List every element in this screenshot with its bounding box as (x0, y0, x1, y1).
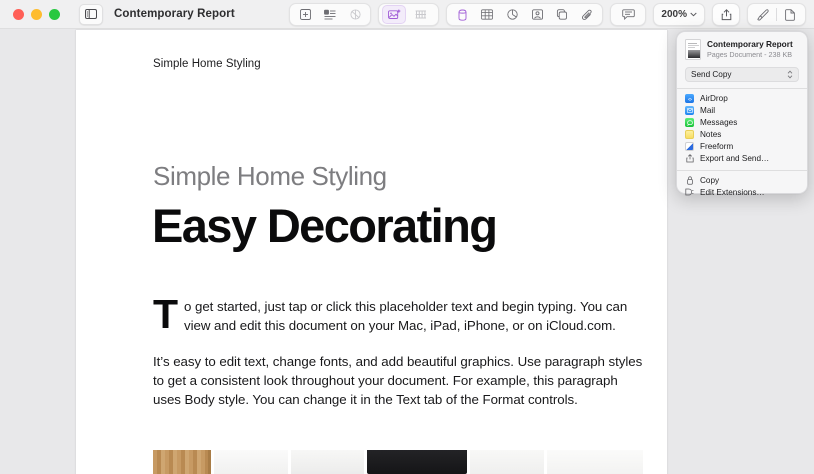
zoom-control[interactable]: 200% (653, 3, 705, 26)
popover-divider-1 (677, 88, 807, 89)
messages-icon (685, 118, 694, 127)
document-eyebrow[interactable]: Simple Home Styling (153, 161, 387, 192)
share-option-label: Freeform (700, 142, 733, 151)
toolbar-group-media (378, 3, 439, 26)
share-action-label: Copy (700, 176, 719, 185)
close-button[interactable] (13, 9, 24, 20)
image-gallery-strip[interactable] (153, 450, 643, 474)
insert-shape-alt-icon[interactable] (450, 5, 474, 24)
share-file-subtitle: Pages Document - 238 KB (707, 50, 793, 60)
drop-cap: T (153, 294, 178, 334)
toolbar-group-objects (446, 3, 603, 26)
send-mode-value: Send Copy (691, 70, 732, 79)
send-mode-select[interactable]: Send Copy (685, 67, 799, 82)
zoom-value: 200% (661, 9, 687, 20)
share-option-export-and-send[interactable]: Export and Send… (677, 153, 807, 165)
running-header[interactable]: Simple Home Styling (153, 58, 261, 70)
insert-chart-pie-icon[interactable] (500, 5, 524, 24)
insert-chart-icon[interactable] (407, 5, 435, 24)
insert-shape-icon[interactable] (343, 5, 367, 24)
titlebar: Contemporary Report (0, 0, 814, 29)
insert-table-grid-icon[interactable] (475, 5, 499, 24)
gallery-image-1[interactable] (214, 450, 288, 474)
share-option-airdrop[interactable]: AirDrop (677, 93, 807, 105)
toolbar-group-comment (610, 3, 646, 26)
share-file-header: Contemporary Report Pages Document - 238… (677, 38, 807, 60)
minimize-button[interactable] (31, 9, 42, 20)
insert-image-icon[interactable] (525, 5, 549, 24)
copy-icon (685, 176, 694, 185)
up-down-chevron-icon (787, 70, 793, 79)
share-option-mail[interactable]: Mail (677, 105, 807, 117)
format-brush-icon[interactable] (751, 5, 775, 24)
share-option-notes[interactable]: Notes (677, 129, 807, 141)
share-action-edit-extensions[interactable]: Edit Extensions… (677, 186, 807, 198)
share-option-label: Notes (700, 130, 721, 139)
page-title: Contemporary Report (114, 8, 235, 20)
document-thumbnail (685, 39, 701, 60)
notes-icon (685, 130, 694, 139)
chevron-down-icon (690, 12, 697, 17)
gallery-image-dark[interactable] (367, 450, 467, 474)
comment-icon[interactable] (614, 5, 642, 24)
document-page[interactable]: Simple Home Styling Simple Home Styling … (76, 30, 667, 474)
share-file-title: Contemporary Report (707, 39, 793, 50)
share-popover: Contemporary Report Pages Document - 238… (676, 31, 808, 194)
share-option-messages[interactable]: Messages (677, 117, 807, 129)
edit-extensions-icon (685, 188, 694, 197)
airdrop-icon (685, 94, 694, 103)
toolbar-group-inspector (747, 3, 806, 26)
document-icon[interactable] (778, 5, 802, 24)
share-option-freeform[interactable]: Freeform (677, 141, 807, 153)
freeform-icon (685, 142, 694, 151)
mail-icon (685, 106, 694, 115)
pages-app-window: Contemporary Report (0, 0, 814, 474)
paragraph-1[interactable]: To get started, just tap or click this p… (153, 297, 643, 336)
toolbar: 200% (289, 3, 806, 26)
gallery-image-3[interactable] (470, 450, 544, 474)
share-option-label: Export and Send… (700, 154, 769, 163)
zoom-button[interactable] (49, 9, 60, 20)
insert-text-box-icon[interactable] (318, 5, 342, 24)
share-action-label: Edit Extensions… (700, 188, 765, 197)
share-option-label: Messages (700, 118, 737, 127)
view-sidebar-icon[interactable] (79, 4, 103, 25)
paragraph-2[interactable]: It’s easy to edit text, change fonts, an… (153, 352, 643, 410)
popover-divider-2 (677, 170, 807, 171)
toolbar-group-insert (289, 3, 371, 26)
share-option-label: Mail (700, 106, 715, 115)
gallery-image-2[interactable] (291, 450, 365, 474)
insert-attachment-icon[interactable] (575, 5, 599, 24)
toolbar-divider (776, 8, 777, 21)
gallery-image-4[interactable] (547, 450, 643, 474)
insert-object-icon[interactable] (550, 5, 574, 24)
share-option-label: AirDrop (700, 94, 728, 103)
gallery-image-wood[interactable] (153, 450, 211, 474)
paragraph-1-text: o get started, just tap or click this pl… (184, 299, 627, 333)
insert-media-icon[interactable] (382, 5, 406, 24)
insert-table-icon[interactable] (293, 5, 317, 24)
share-button[interactable] (712, 3, 740, 26)
traffic-lights (13, 9, 60, 20)
share-action-copy[interactable]: Copy (677, 174, 807, 186)
export-and-send-icon (685, 154, 694, 163)
document-body: To get started, just tap or click this p… (153, 297, 643, 409)
document-headline[interactable]: Easy Decorating (152, 198, 496, 253)
